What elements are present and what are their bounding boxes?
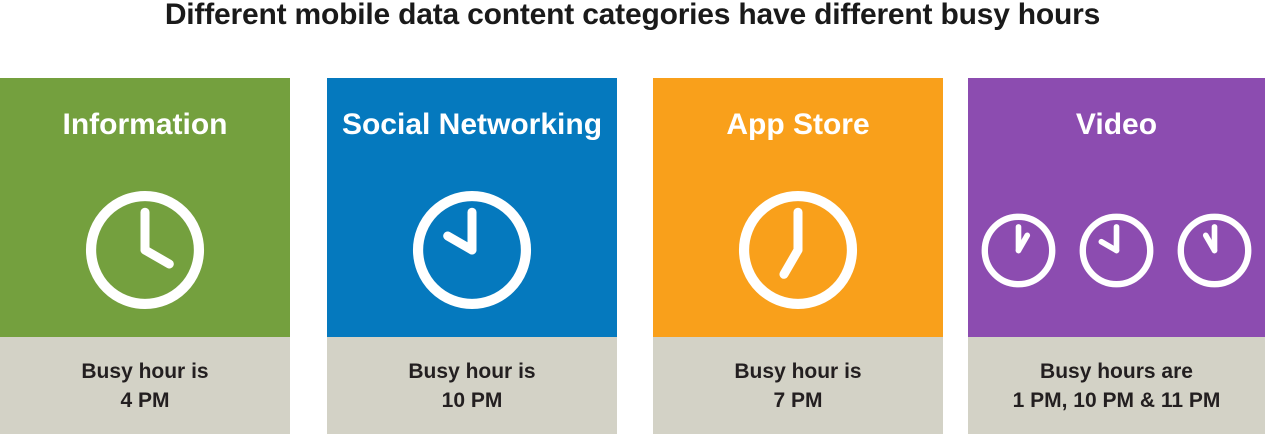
caption-line-1: Busy hour is — [653, 357, 943, 386]
category-card-app-store: App StoreBusy hour is7 PM — [653, 78, 943, 434]
card-caption-app-store: Busy hour is7 PM — [653, 337, 943, 434]
clock-group — [327, 185, 617, 315]
clock-10pm-icon — [412, 190, 532, 310]
card-caption-social-networking: Busy hour is10 PM — [327, 337, 617, 434]
caption-line-2: 7 PM — [653, 386, 943, 415]
caption-line-2: 1 PM, 10 PM & 11 PM — [968, 386, 1265, 415]
card-caption-information: Busy hour is4 PM — [0, 337, 290, 434]
caption-line-2: 4 PM — [0, 386, 290, 415]
card-label-app-store: App Store — [653, 108, 943, 142]
card-label-information: Information — [0, 108, 290, 142]
category-card-social-networking: Social NetworkingBusy hour is10 PM — [327, 78, 617, 434]
clock-group — [0, 185, 290, 315]
card-label-video: Video — [968, 108, 1265, 142]
page-title: Different mobile data content categories… — [0, 0, 1265, 32]
clock-1pm-icon — [981, 213, 1056, 288]
clock-4pm-icon — [85, 190, 205, 310]
clock-7pm-icon — [738, 190, 858, 310]
category-card-video: VideoBusy hours are1 PM, 10 PM & 11 PM — [968, 78, 1265, 434]
category-card-information: InformationBusy hour is4 PM — [0, 78, 290, 434]
caption-line-2: 10 PM — [327, 386, 617, 415]
clock-10pm-icon — [1079, 213, 1154, 288]
caption-line-1: Busy hour is — [0, 357, 290, 386]
caption-line-1: Busy hours are — [968, 357, 1265, 386]
caption-line-1: Busy hour is — [327, 357, 617, 386]
clock-group — [968, 185, 1265, 315]
clock-group — [653, 185, 943, 315]
clock-11pm-icon — [1177, 213, 1252, 288]
card-label-social-networking: Social Networking — [327, 108, 617, 142]
card-caption-video: Busy hours are1 PM, 10 PM & 11 PM — [968, 337, 1265, 434]
